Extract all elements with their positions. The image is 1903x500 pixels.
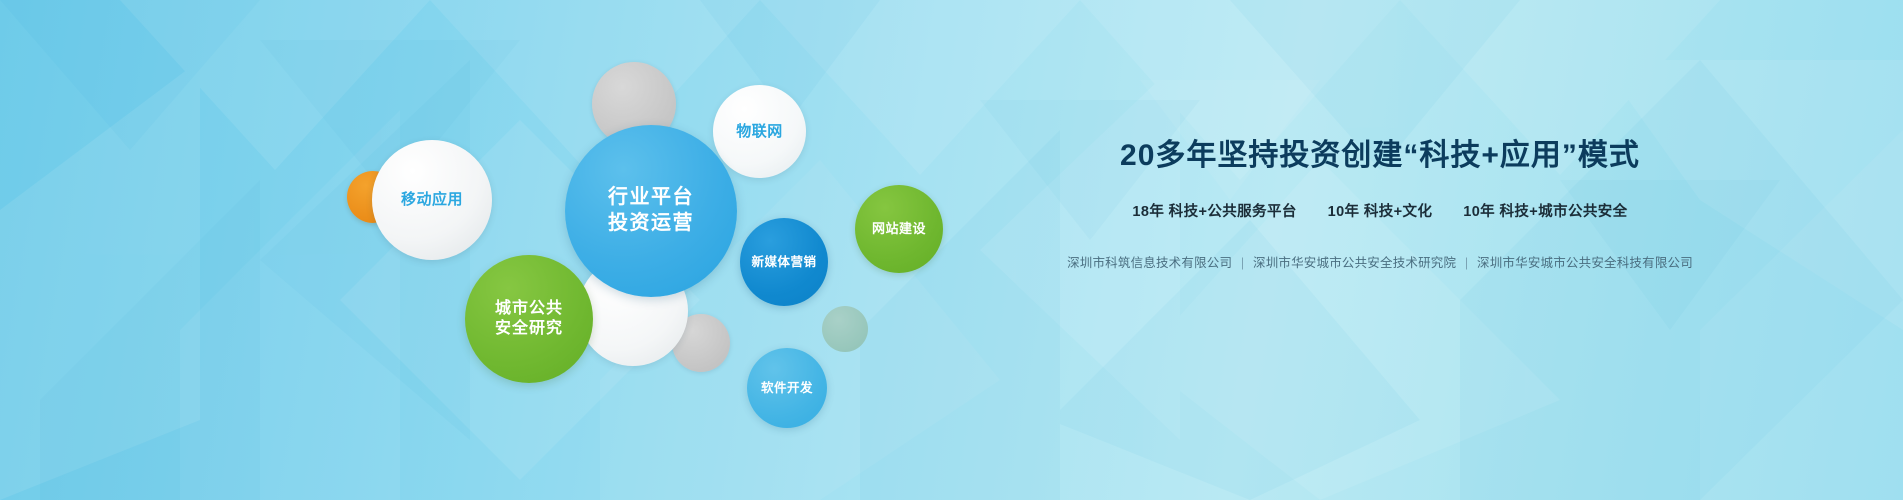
bubble-label-mobile-application: 移动应用: [401, 190, 463, 209]
bubble-industry-platform[interactable]: 行业平台 投资运营: [565, 125, 737, 297]
bubble-label-new-media-marketing: 新媒体营销: [751, 254, 816, 270]
bubble-label-software-development: 软件开发: [761, 380, 813, 396]
banner-company-list: 深圳市科筑信息技术有限公司 | 深圳市华安城市公共安全技术研究院 | 深圳市华安…: [980, 252, 1780, 271]
company-name-2: 深圳市华安城市公共安全技术研究院: [1253, 256, 1456, 270]
bubble-label-industry-platform-line2: 投资运营: [608, 211, 694, 237]
company-name-1: 深圳市科筑信息技术有限公司: [1067, 256, 1232, 270]
bubble-cluster: 移动应用 物联网 行业平台 投资运营 网站建设 新媒体营销 城市公共 安全研究 …: [0, 0, 1000, 500]
bubble-urban-public-safety-research[interactable]: 城市公共 安全研究: [465, 255, 593, 383]
company-name-3: 深圳市华安城市公共安全科技有限公司: [1477, 256, 1693, 270]
bubble-label-industry-platform-line1: 行业平台: [608, 185, 694, 211]
bubble-decor-teal: [822, 306, 868, 352]
bubble-new-media-marketing[interactable]: 新媒体营销: [740, 218, 828, 306]
company-separator-2: |: [1465, 256, 1468, 270]
subtitle-item-2: 10年 科技+文化: [1328, 204, 1433, 220]
banner-subtitle: 18年 科技+公共服务平台 10年 科技+文化 10年 科技+城市公共安全: [980, 200, 1780, 221]
promo-banner: 移动应用 物联网 行业平台 投资运营 网站建设 新媒体营销 城市公共 安全研究 …: [0, 0, 1903, 500]
bubble-software-development[interactable]: 软件开发: [747, 348, 827, 428]
banner-copy: 20多年坚持投资创建“科技+应用”模式 18年 科技+公共服务平台 10年 科技…: [980, 130, 1780, 271]
bubble-internet-of-things[interactable]: 物联网: [713, 85, 806, 178]
banner-headline: 20多年坚持投资创建“科技+应用”模式: [980, 130, 1780, 174]
bubble-mobile-application[interactable]: 移动应用: [372, 140, 492, 260]
bubble-label-urban-safety-line2: 安全研究: [495, 319, 563, 339]
subtitle-item-1: 18年 科技+公共服务平台: [1132, 204, 1296, 220]
subtitle-item-3: 10年 科技+城市公共安全: [1463, 204, 1627, 220]
bubble-label-website-construction: 网站建设: [872, 221, 926, 238]
bubble-website-construction[interactable]: 网站建设: [855, 185, 943, 273]
bubble-label-internet-of-things: 物联网: [736, 122, 783, 141]
bubble-label-urban-safety-line1: 城市公共: [495, 299, 563, 319]
company-separator-1: |: [1241, 256, 1244, 270]
